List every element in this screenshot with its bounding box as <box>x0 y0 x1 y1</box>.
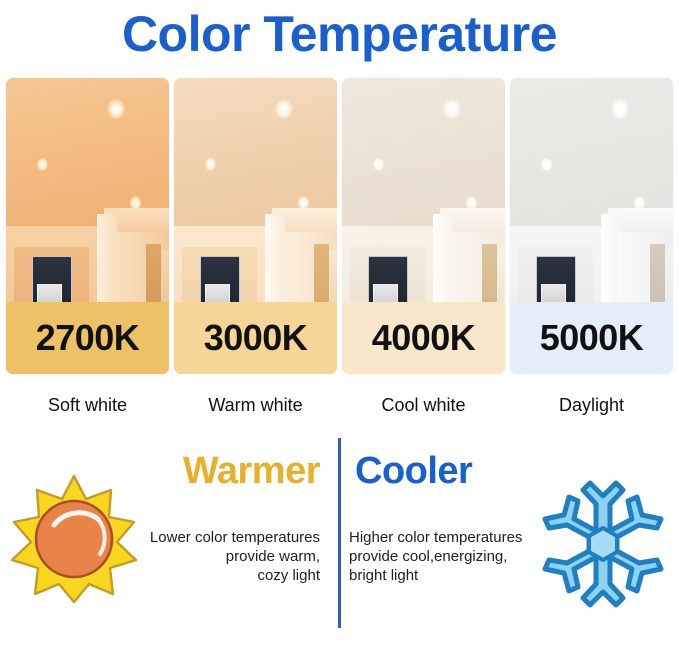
warmer-cooler-section: Warmer Lower color temperatures provide … <box>0 432 679 653</box>
color-temperature-infographic: Color Temperature <box>0 0 679 653</box>
downlight-icon <box>466 196 477 209</box>
kelvin-band: 3000K <box>174 302 337 374</box>
cooler-heading: Cooler <box>355 450 472 493</box>
warmer-description: Lower color temperatures provide warm, c… <box>110 528 320 585</box>
swatch-caption-daylight: Daylight <box>510 388 673 422</box>
cooler-block: Cooler Higher color temperatures provide… <box>341 432 679 653</box>
kelvin-label: 3000K <box>204 317 308 359</box>
temperature-panel-2700k[interactable]: 2700K <box>6 78 169 374</box>
snowflake-icon <box>533 470 673 618</box>
kelvin-band: 2700K <box>6 302 169 374</box>
downlight-icon <box>298 196 309 209</box>
kelvin-label: 4000K <box>372 317 476 359</box>
temperature-panel-4000k[interactable]: 4000K <box>342 78 505 374</box>
swatch-caption-warm-white: Warm white <box>174 388 337 422</box>
warmer-heading: Warmer <box>183 450 320 493</box>
kelvin-label: 5000K <box>540 317 644 359</box>
cooler-description: Higher color temperatures provide cool,e… <box>349 528 564 585</box>
temperature-panel-3000k[interactable]: 3000K <box>174 78 337 374</box>
warmer-block: Warmer Lower color temperatures provide … <box>0 432 338 653</box>
temperature-panel-5000k[interactable]: 5000K <box>510 78 673 374</box>
kelvin-label: 2700K <box>36 317 140 359</box>
downlight-icon <box>634 196 645 209</box>
downlight-icon <box>130 196 141 209</box>
kelvin-band: 4000K <box>342 302 505 374</box>
kelvin-band: 5000K <box>510 302 673 374</box>
swatch-caption-row: Soft white Warm white Cool white Dayligh… <box>6 388 673 422</box>
temperature-panel-row: 2700K <box>6 78 673 374</box>
page-title: Color Temperature <box>0 2 679 66</box>
swatch-caption-soft-white: Soft white <box>6 388 169 422</box>
swatch-caption-cool-white: Cool white <box>342 388 505 422</box>
